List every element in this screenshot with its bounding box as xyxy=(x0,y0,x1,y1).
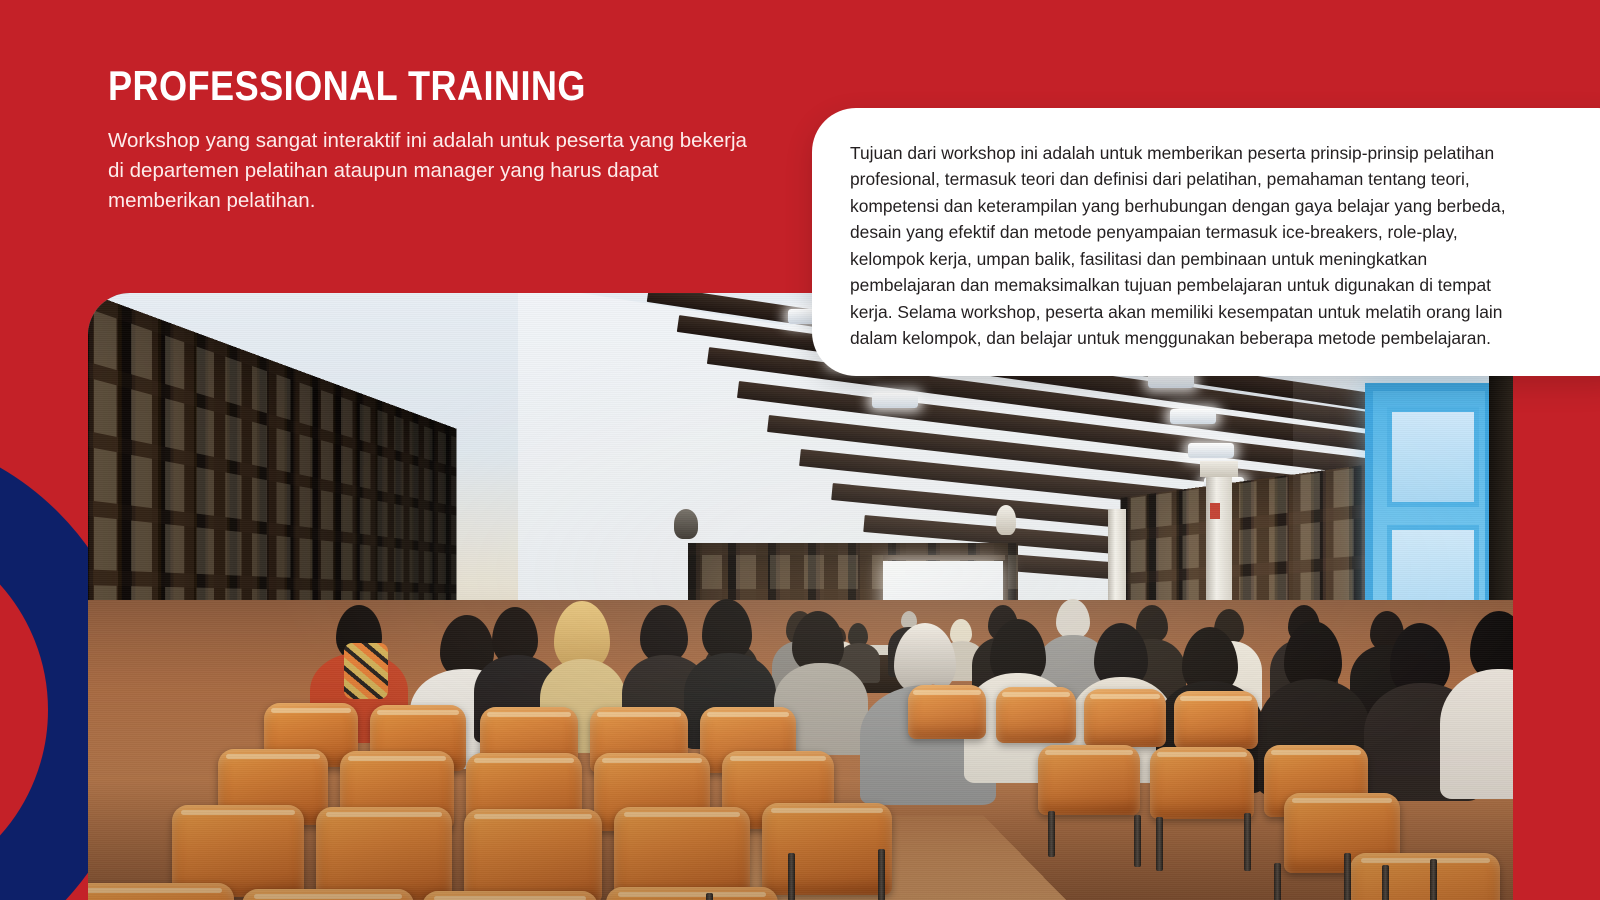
window-pane xyxy=(1387,407,1479,507)
auditorium-chair xyxy=(1350,853,1500,900)
page-subtitle: Workshop yang sangat interaktif ini adal… xyxy=(108,126,748,215)
chair-leg xyxy=(1344,853,1351,900)
auditorium-chair xyxy=(908,685,986,739)
chair-leg xyxy=(788,853,795,900)
exit-marker xyxy=(1210,503,1220,519)
chair-leg xyxy=(1244,813,1251,871)
chair-leg xyxy=(1430,859,1437,900)
vase-ornament xyxy=(674,509,698,539)
auditorium-chair xyxy=(88,883,234,900)
ceiling-lamp xyxy=(1188,443,1234,458)
info-card: Tujuan dari workshop ini adalah untuk me… xyxy=(812,108,1600,376)
auditorium-chair xyxy=(1150,747,1254,819)
patterned-scarf xyxy=(344,643,388,699)
auditorium-chair xyxy=(1174,691,1258,749)
ceiling-lamp xyxy=(1170,409,1216,424)
audience-head xyxy=(1056,599,1090,639)
vase-ornament xyxy=(996,505,1016,535)
chair-leg xyxy=(1048,811,1055,857)
auditorium-chair xyxy=(1084,689,1166,747)
chair-leg xyxy=(1382,865,1389,900)
column-capital xyxy=(1200,461,1238,477)
auditorium-chair xyxy=(606,887,778,900)
auditorium-chair xyxy=(316,807,452,900)
projection-screen-rod xyxy=(883,555,1005,560)
chair-leg xyxy=(878,849,885,900)
training-photo xyxy=(88,293,1513,900)
auditorium-chair xyxy=(422,891,598,900)
chair-leg xyxy=(706,893,713,900)
page-title: PROFESSIONAL TRAINING xyxy=(108,64,658,108)
auditorium-chair xyxy=(242,889,414,900)
chair-leg xyxy=(1134,815,1141,867)
header-block: PROFESSIONAL TRAINING Workshop yang sang… xyxy=(108,64,748,215)
auditorium-chair xyxy=(464,809,602,900)
ceiling-lamp xyxy=(872,393,918,408)
photo-scene xyxy=(88,293,1513,900)
chair-leg xyxy=(1274,863,1281,900)
chair-leg xyxy=(1156,817,1163,871)
auditorium-chair xyxy=(1038,745,1140,815)
auditorium-chair xyxy=(762,803,892,895)
auditorium-chair xyxy=(996,687,1076,743)
info-card-body: Tujuan dari workshop ini adalah untuk me… xyxy=(850,140,1530,352)
slide-root: PROFESSIONAL TRAINING Workshop yang sang… xyxy=(0,0,1600,900)
